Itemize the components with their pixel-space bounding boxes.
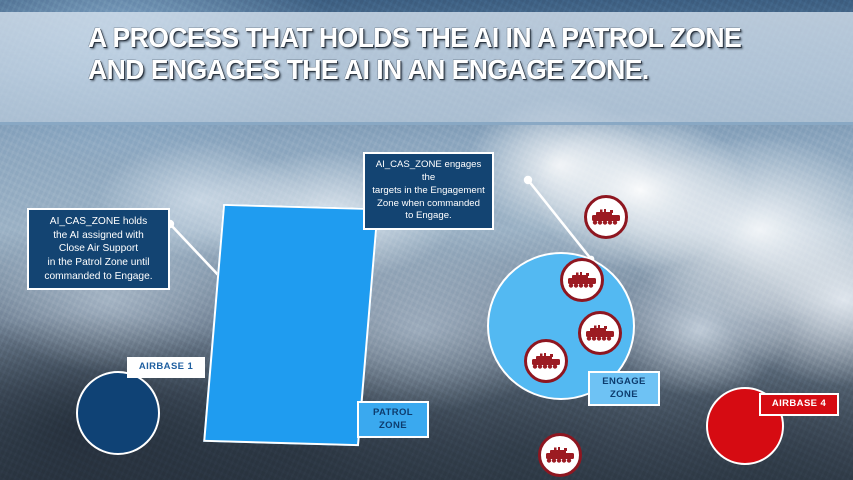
armor-unit-icon[interactable]: [584, 195, 628, 239]
engage-callout-box: AI_CAS_ZONE engages the targets in the E…: [363, 152, 494, 230]
patrol-zone-shape[interactable]: [203, 204, 379, 446]
page-title: A PROCESS THAT HOLDS THE AI IN A PATROL …: [88, 22, 753, 87]
airbase-4-label: AIRBASE 4: [759, 393, 839, 416]
slide-canvas: A PROCESS THAT HOLDS THE AI IN A PATROL …: [0, 0, 853, 480]
armor-unit-icon[interactable]: [524, 339, 568, 383]
airbase-1-shape[interactable]: [76, 371, 160, 455]
armor-unit-icon[interactable]: [538, 433, 582, 477]
armor-unit-icon[interactable]: [578, 311, 622, 355]
armor-unit-icon[interactable]: [560, 258, 604, 302]
airbase-1-label: AIRBASE 1: [127, 357, 205, 378]
engage-zone-label: ENGAGE ZONE: [588, 371, 660, 406]
patrol-zone-label: PATROL ZONE: [357, 401, 429, 438]
patrol-callout-box: AI_CAS_ZONE holds the AI assigned with C…: [27, 208, 170, 290]
